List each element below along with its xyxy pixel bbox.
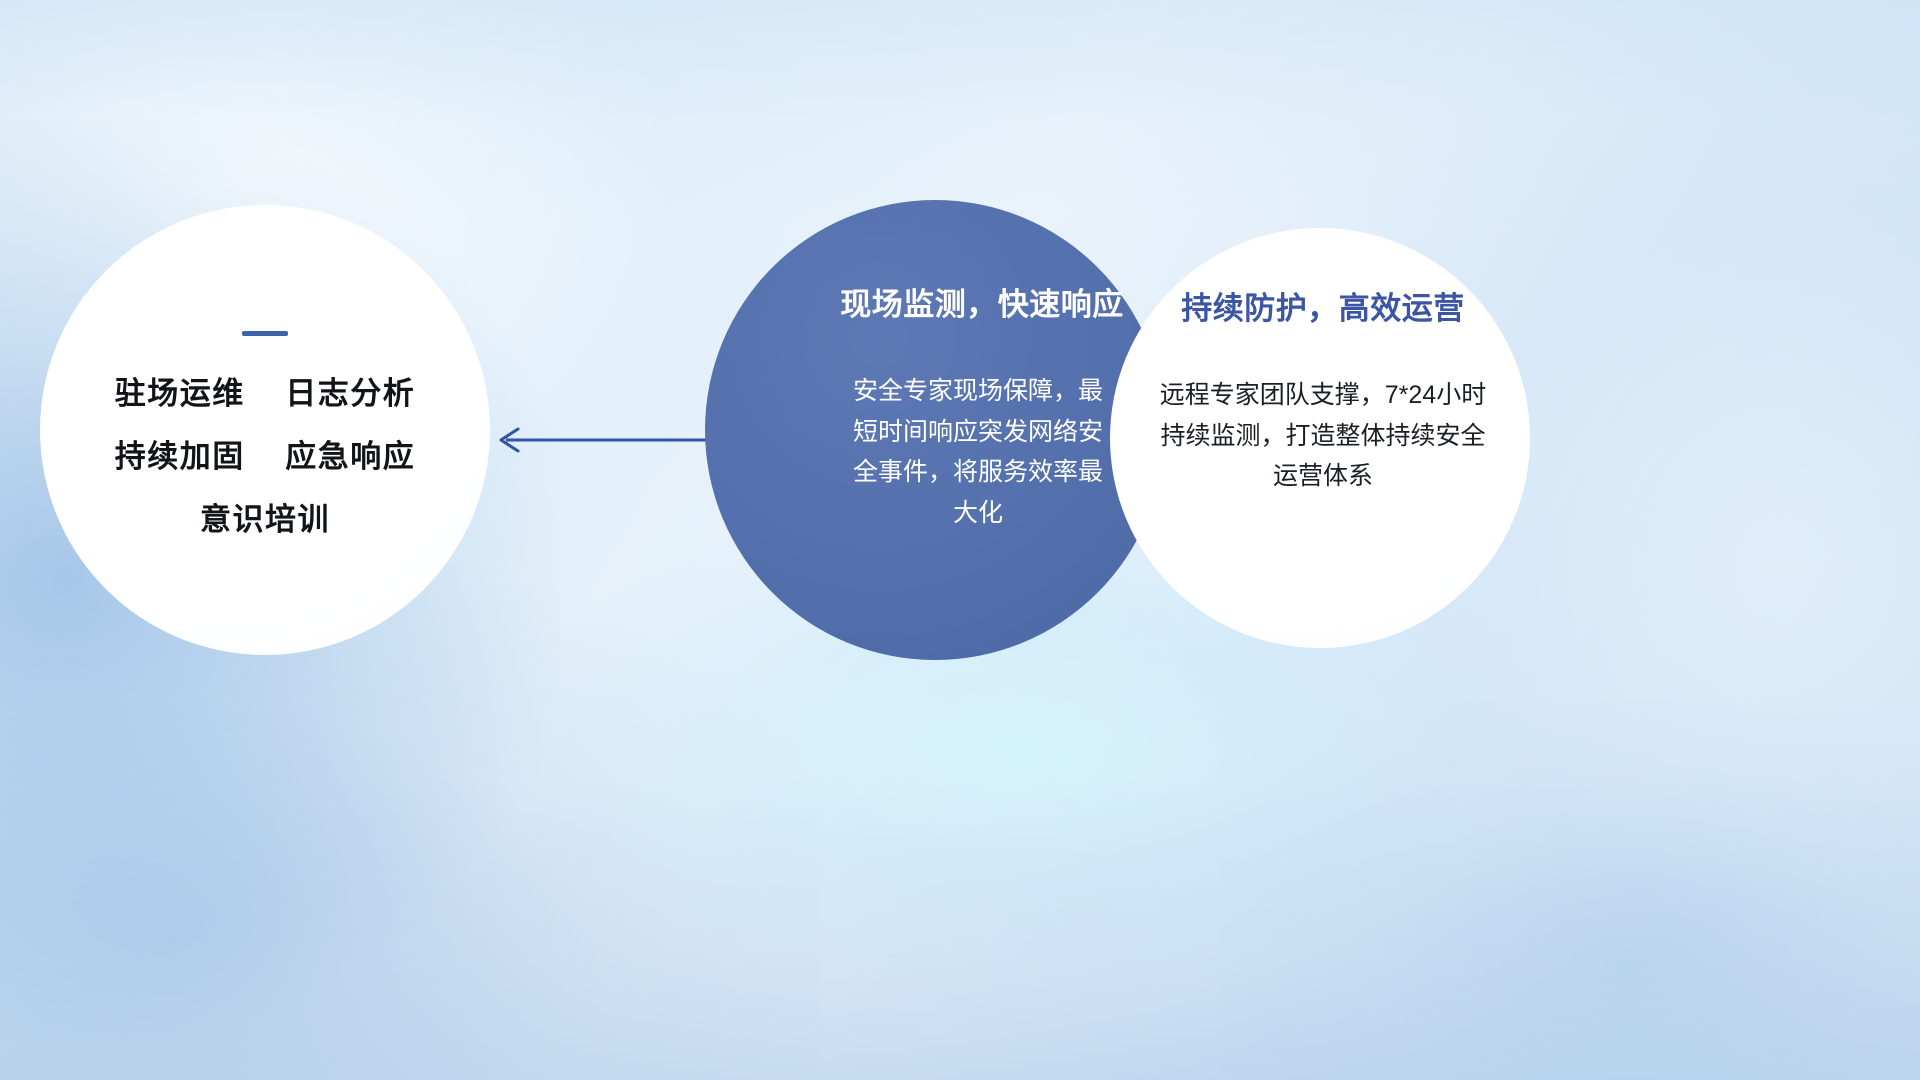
right-circle-body: 远程专家团队支撑，7*24小时持续监测，打造整体持续安全运营体系 — [1153, 375, 1493, 497]
right-circle-content: 持续防护，高效运营 远程专家团队支撑，7*24小时持续监测，打造整体持续安全运营… — [1110, 228, 1530, 648]
middle-circle-body: 安全专家现场保障，最短时间响应突发网络安全事件，将服务效率最大化 — [842, 371, 1114, 533]
left-circle-content: 驻场运维 日志分析 持续加固 应急响应 意识培训 — [40, 205, 490, 655]
right-circle-heading: 持续防护，高效运营 — [1181, 290, 1465, 327]
background-vignette-top — [0, 0, 1920, 220]
background-vignette-bottom — [0, 780, 1920, 1080]
capability-line-2: 持续加固 应急响应 — [115, 441, 415, 472]
capability-line-3: 意识培训 — [200, 504, 330, 535]
slide-canvas: 驻场运维 日志分析 持续加固 应急响应 意识培训 现场监测，快速响应 安全专家现… — [0, 0, 1920, 1080]
middle-circle-heading: 现场监测，快速响应 — [840, 286, 1124, 323]
flow-arrow-icon — [492, 420, 722, 460]
capability-line-1: 驻场运维 日志分析 — [115, 378, 415, 409]
middle-circle-content: 现场监测，快速响应 安全专家现场保障，最短时间响应突发网络安全事件，将服务效率最… — [705, 200, 1165, 660]
dash-accent-icon — [242, 331, 288, 336]
